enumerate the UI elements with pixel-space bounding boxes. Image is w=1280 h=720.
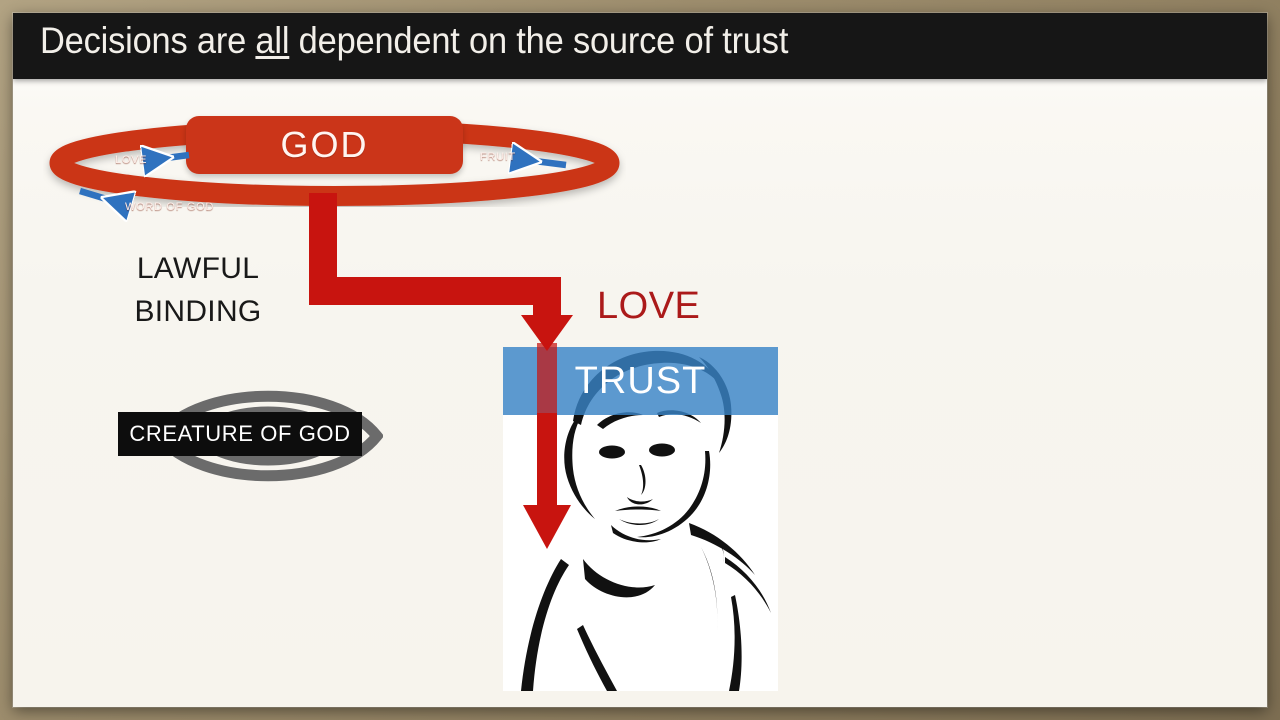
slide-canvas: Decisions are all dependent on the sourc… — [13, 13, 1267, 707]
god-to-child-arrow — [13, 13, 1267, 707]
diagram-canvas: GOD LOVE FRUIT WORD OF GOD LAWFUL BINDIN… — [13, 13, 1267, 707]
